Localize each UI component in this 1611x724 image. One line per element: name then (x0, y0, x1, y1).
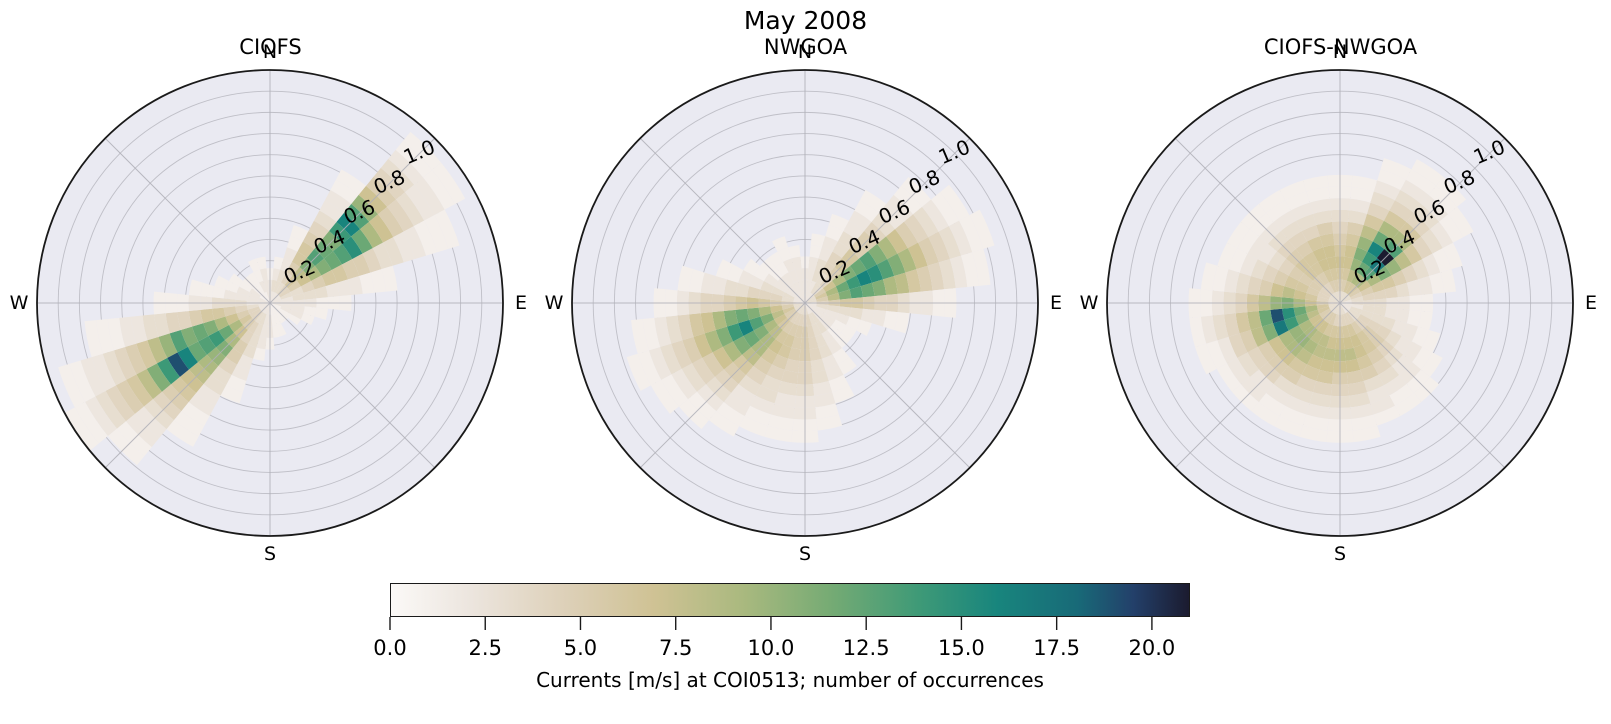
direction-label-w: W (1080, 292, 1099, 314)
colorbar-tick-label: 7.5 (659, 635, 692, 661)
polar-panel-ciofs: CIOFS 0.20.40.60.81.0NESW (2, 34, 539, 579)
colorbar-gradient (390, 583, 1190, 617)
windrose-svg: 0.20.40.60.81.0NESW (2, 60, 539, 579)
colorbar-tick-label: 10.0 (748, 635, 795, 661)
polar-panel-nwgoa: NWGOA 0.20.40.60.81.0NESW (537, 34, 1074, 579)
direction-label-n: N (798, 41, 812, 63)
figure-suptitle: May 2008 (0, 6, 1611, 36)
polar-spokes (1107, 70, 1573, 536)
direction-label-n: N (263, 41, 277, 63)
colorbar-tick-label: 0.0 (373, 635, 406, 661)
direction-label-e: E (1585, 292, 1597, 314)
colorbar-axis-label: Currents [m/s] at COI0513; number of occ… (390, 668, 1190, 693)
direction-label-s: S (264, 543, 276, 565)
windrose-ciofs-nwgoa[interactable]: 0.20.40.60.81.0NESW (1072, 60, 1609, 579)
direction-label-e: E (1050, 292, 1062, 314)
figure-root: May 2008 CIOFS 0.20.40.60.81.0NESW NWGOA… (0, 0, 1611, 724)
direction-label-e: E (515, 292, 527, 314)
direction-label-w: W (10, 292, 29, 314)
colorbar-tick-label: 20.0 (1129, 635, 1176, 661)
direction-label-s: S (799, 543, 811, 565)
direction-label-n: N (1333, 41, 1347, 63)
windrose-ciofs[interactable]: 0.20.40.60.81.0NESW (2, 60, 539, 579)
colorbar: 0.02.55.07.510.012.515.017.520.0 Current… (390, 583, 1190, 723)
polar-panel-ciofs-nwgoa: CIOFS-NWGOA 0.20.40.60.81.0NESW (1072, 34, 1609, 579)
colorbar-tick-label: 17.5 (1033, 635, 1080, 661)
windrose-svg: 0.20.40.60.81.0NESW (1072, 60, 1609, 579)
colorbar-tick-label: 15.0 (938, 635, 985, 661)
colorbar-tick-labels: 0.02.55.07.510.012.515.017.520.0 (390, 635, 1190, 661)
windrose-nwgoa[interactable]: 0.20.40.60.81.0NESW (537, 60, 1074, 579)
colorbar-tick-label: 5.0 (564, 635, 597, 661)
polar-spokes (37, 70, 503, 536)
direction-label-w: W (545, 292, 564, 314)
colorbar-ticks (390, 617, 1190, 635)
polar-spokes (572, 70, 1038, 536)
direction-label-s: S (1334, 543, 1346, 565)
colorbar-tick-label: 12.5 (843, 635, 890, 661)
colorbar-tick-label: 2.5 (469, 635, 502, 661)
windrose-svg: 0.20.40.60.81.0NESW (537, 60, 1074, 579)
